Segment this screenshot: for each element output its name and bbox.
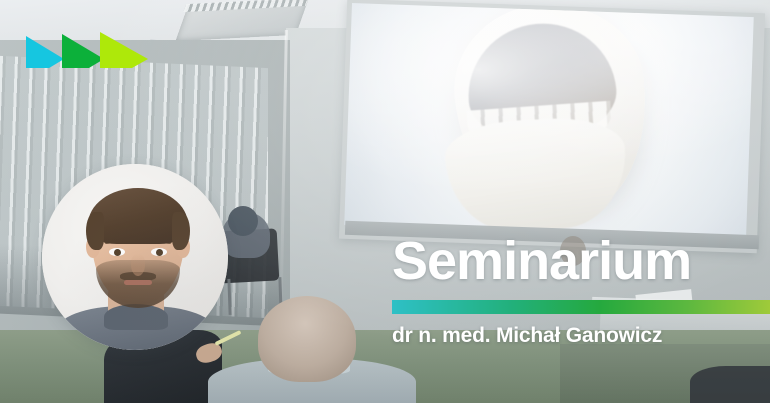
cyan-triangle-icon <box>26 36 64 68</box>
foreground-attendee-head <box>258 296 356 382</box>
brand-logo[interactable] <box>18 16 158 68</box>
speaker-name: dr n. med. Michał Ganowicz <box>392 324 662 348</box>
lime-triangle-icon <box>100 32 148 68</box>
title-block: Seminarium dr n. med. Michał Ganowicz <box>392 234 770 364</box>
speaker-portrait-avatar <box>42 164 228 350</box>
foreground-attendee-right <box>690 366 770 403</box>
accent-gradient-bar <box>392 300 770 314</box>
seated-attendee-head <box>228 206 258 236</box>
seminar-banner: Seminarium dr n. med. Michał Ganowicz <box>0 0 770 403</box>
dental-cast-lower <box>443 115 629 234</box>
projection-screen <box>344 3 754 239</box>
page-title: Seminarium <box>392 234 691 288</box>
logo-triangles <box>18 16 158 68</box>
portrait-vignette <box>42 164 228 350</box>
green-triangle-icon <box>62 34 104 68</box>
